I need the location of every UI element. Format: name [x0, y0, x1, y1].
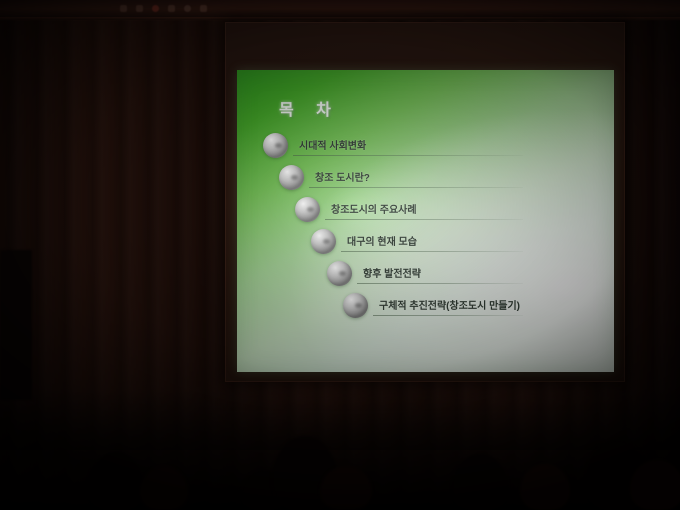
toc-item: 창조도시의 주요사례 — [237, 194, 614, 226]
toc-item-rule — [357, 283, 523, 284]
toc-item-rule — [373, 315, 523, 316]
toc-item-label: 향후 발전전략 — [363, 265, 421, 280]
toc-item-rule — [309, 187, 523, 188]
banner-logos — [120, 1, 590, 15]
logo-mark-icon — [120, 5, 127, 12]
sphere-bullet-icon — [311, 229, 336, 254]
toc-item-rule — [325, 219, 523, 220]
sphere-bullet-icon — [327, 261, 352, 286]
toc-item-rule — [341, 251, 523, 252]
presentation-photo: 목 차 시대적 사회변화창조 도시란?창조도시의 주요사례대구의 현재 모습향후… — [0, 0, 680, 510]
sphere-bullet-icon — [295, 197, 320, 222]
toc-item-label: 창조도시의 주요사례 — [331, 201, 417, 216]
toc-item: 시대적 사회변화 — [237, 130, 614, 162]
toc-item-rule — [293, 155, 523, 156]
toc-item-label: 대구의 현재 모습 — [347, 233, 417, 248]
toc-item: 향후 발전전략 — [237, 258, 614, 290]
toc-item-label: 시대적 사회변화 — [299, 137, 366, 152]
table-of-contents: 시대적 사회변화창조 도시란?창조도시의 주요사례대구의 현재 모습향후 발전전… — [237, 130, 614, 322]
projected-slide: 목 차 시대적 사회변화창조 도시란?창조도시의 주요사례대구의 현재 모습향후… — [237, 70, 614, 372]
logo-mark-icon — [168, 5, 175, 12]
toc-item: 구체적 추진전략(창조도시 만들기) — [237, 290, 614, 322]
logo-mark-icon — [136, 5, 143, 12]
sphere-bullet-icon — [263, 133, 288, 158]
sphere-bullet-icon — [279, 165, 304, 190]
logo-mark-red-icon — [152, 5, 159, 12]
toc-item: 대구의 현재 모습 — [237, 226, 614, 258]
speaker-cabinet — [0, 250, 32, 400]
sphere-bullet-icon — [343, 293, 368, 318]
toc-item: 창조 도시란? — [237, 162, 614, 194]
logo-mark-icon — [200, 5, 207, 12]
toc-item-label: 구체적 추진전략(창조도시 만들기) — [379, 297, 520, 312]
slide-title: 목 차 — [279, 96, 340, 120]
toc-item-label: 창조 도시란? — [315, 169, 370, 184]
banner-edge — [0, 17, 680, 21]
logo-mark-dot-icon — [184, 5, 191, 12]
